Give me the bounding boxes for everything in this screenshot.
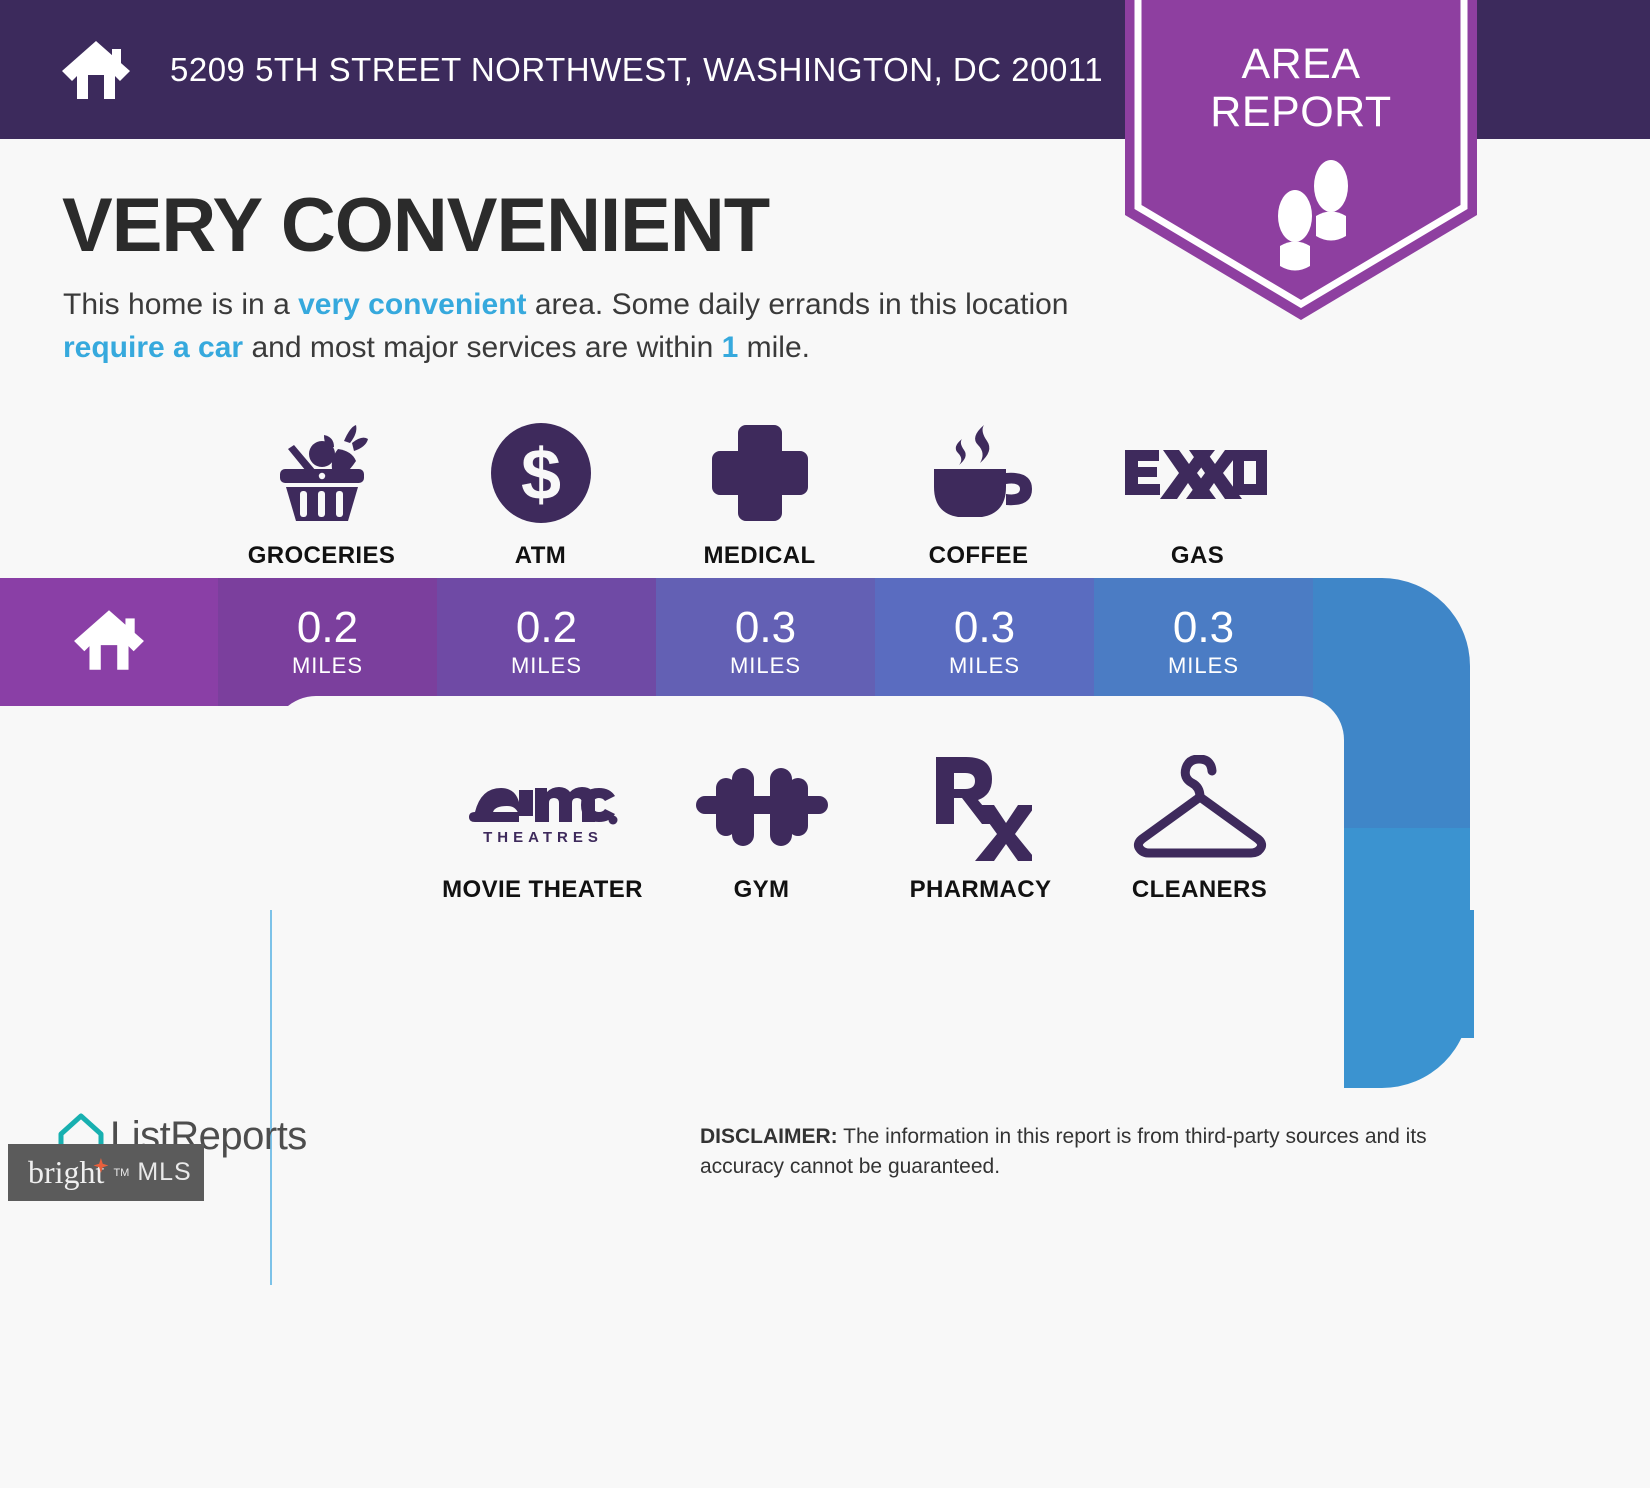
grocery-basket-icon	[266, 418, 378, 528]
upper-service-item-4: GAS	[1088, 418, 1307, 570]
summary-highlight-2: require a car	[63, 331, 243, 364]
upper-row-cell-1: 0.2MILES	[437, 578, 656, 706]
distance-unit: MILES	[511, 653, 582, 679]
lower-service-item-3: CLEANERS	[1090, 752, 1309, 904]
bright-wordmark: bright	[28, 1154, 104, 1191]
clothes-hanger-icon	[1130, 752, 1270, 862]
house-icon	[60, 39, 132, 101]
lower-service-item-0: THEATRES MOVIE THEATER	[433, 752, 652, 904]
summary-part-2: area. Some daily errands in this locatio…	[527, 288, 1069, 321]
service-label: COFFEE	[929, 542, 1029, 570]
upper-row-cell-2: 0.3MILES	[656, 578, 875, 706]
distance-value: 0.2	[297, 605, 358, 651]
distance-unit: MILES	[292, 653, 363, 679]
svg-text:$: $	[520, 435, 560, 515]
distance-row-upper: 0.2MILES0.2MILES0.3MILES0.3MILES0.3MILES	[0, 578, 1470, 706]
exxon-logo-icon	[1123, 418, 1273, 528]
summary-part-3: and most major services are within	[243, 331, 722, 364]
medical-cross-icon	[708, 418, 812, 528]
service-icons-row-upper: GROCERIES $ ATM MEDICAL COFFEE GAS	[212, 418, 1307, 570]
upper-service-item-2: MEDICAL	[650, 418, 869, 570]
summary-part-1: This home is in a	[63, 288, 298, 321]
page-title: VERY CONVENIENT	[62, 182, 769, 269]
upper-row-cell-3: 0.3MILES	[875, 578, 1094, 706]
amc-theatres-logo-icon: THEATRES	[467, 752, 619, 862]
svg-text:THEATRES: THEATRES	[483, 829, 603, 846]
service-label: ATM	[515, 542, 566, 570]
bright-mls-watermark: bright TM MLS	[8, 1144, 204, 1201]
service-label: CLEANERS	[1132, 876, 1267, 904]
bright-word-text: bright	[28, 1154, 104, 1190]
service-label: GAS	[1171, 542, 1224, 570]
service-icons-row-lower: THEATRES MOVIE THEATER GYM PHARMACY CLEA…	[433, 752, 1309, 904]
dumbbell-icon	[694, 752, 830, 862]
area-report-badge: AREA REPORT	[1125, 0, 1477, 320]
service-label: PHARMACY	[910, 876, 1052, 904]
disclaimer: DISCLAIMER: The information in this repo…	[700, 1122, 1510, 1182]
summary-highlight-3: 1	[722, 331, 739, 364]
upper-row-cell-4: 0.3MILES	[1094, 578, 1313, 706]
house-icon	[72, 608, 146, 677]
distance-unit: MILES	[1168, 653, 1239, 679]
service-label: GROCERIES	[248, 542, 396, 570]
distance-value: 0.2	[516, 605, 577, 651]
upper-service-item-0: GROCERIES	[212, 418, 431, 570]
badge-title: AREA REPORT	[1125, 40, 1477, 136]
upper-service-item-1: $ ATM	[431, 418, 650, 570]
badge-line-2: REPORT	[1125, 88, 1477, 136]
upper-service-item-3: COFFEE	[869, 418, 1088, 570]
rx-icon	[930, 752, 1032, 862]
home-marker-cell	[0, 578, 218, 706]
distance-value: 0.3	[954, 605, 1015, 651]
dollar-circle-icon: $	[489, 418, 593, 528]
badge-line-1: AREA	[1125, 40, 1477, 88]
lower-service-item-2: PHARMACY	[871, 752, 1090, 904]
service-label: MEDICAL	[703, 542, 815, 570]
service-label: MOVIE THEATER	[442, 876, 643, 904]
lower-service-item-1: GYM	[652, 752, 871, 904]
header-bar: 5209 5TH STREET NORTHWEST, WASHINGTON, D…	[0, 0, 1126, 139]
distance-value: 0.3	[735, 605, 796, 651]
distance-value: 0.3	[1173, 605, 1234, 651]
summary-highlight-1: very convenient	[298, 288, 526, 321]
summary-part-4: mile.	[738, 331, 810, 364]
coffee-cup-icon	[922, 418, 1036, 528]
disclaimer-label: DISCLAIMER:	[700, 1125, 838, 1148]
distance-unit: MILES	[949, 653, 1020, 679]
service-label: GYM	[734, 876, 790, 904]
bright-tm-mark: TM	[113, 1167, 129, 1179]
bright-mls-text: MLS	[137, 1158, 191, 1187]
summary-text: This home is in a very convenient area. …	[63, 283, 1123, 369]
property-address: 5209 5TH STREET NORTHWEST, WASHINGTON, D…	[170, 51, 1103, 89]
distance-unit: MILES	[730, 653, 801, 679]
upper-row-cell-0: 0.2MILES	[218, 578, 437, 706]
